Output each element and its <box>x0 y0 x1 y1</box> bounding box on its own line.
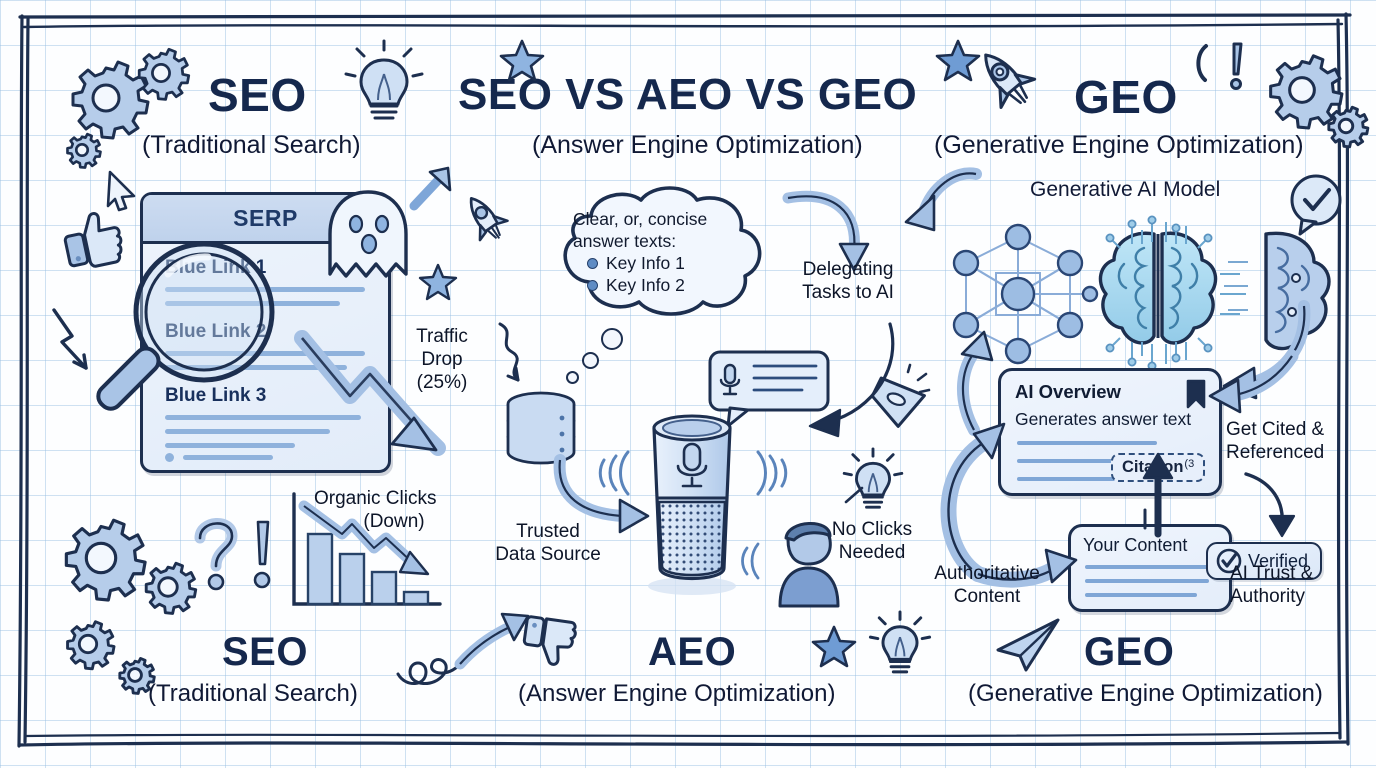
star-icon <box>500 38 544 82</box>
answer-cloud-bullet: Key Info 1 <box>587 252 707 274</box>
serp-card-title: SERP <box>233 205 298 232</box>
cloud-puff-icon <box>601 328 623 350</box>
citation-superscript: (3 <box>1184 458 1194 470</box>
answer-cloud: Clear, or, concise answer texts: Key Inf… <box>545 186 785 316</box>
authoritative-line-1: Authoritative <box>922 562 1052 585</box>
sound-wave-icon <box>734 538 768 584</box>
exclamation-mark-icon <box>1196 38 1266 118</box>
cloud-puff-icon <box>582 352 599 369</box>
answer-cloud-bullet-1: Key Info 1 <box>606 252 685 274</box>
header-right-subtitle: (Generative Engine Optimization) <box>934 131 1304 160</box>
check-badge-icon <box>1284 172 1348 238</box>
get-cited-label: Get Cited & Referenced <box>1226 418 1324 464</box>
authoritative-line-2: Content <box>922 585 1052 608</box>
bullet-dot-icon <box>587 258 598 269</box>
get-cited-line-2: Referenced <box>1226 441 1324 464</box>
footer-right-title: GEO <box>1084 630 1174 675</box>
rocket-icon <box>452 178 518 258</box>
footer-left-title: SEO <box>222 630 308 675</box>
paper-plane-icon <box>992 616 1064 674</box>
no-clicks-label: No Clicks Needed <box>816 518 928 564</box>
answer-cloud-bullet-2: Key Info 2 <box>606 274 685 296</box>
cloud-puff-icon <box>566 371 579 384</box>
get-cited-arrow-icon <box>1206 352 1302 428</box>
footer-center-title: AEO <box>648 630 736 675</box>
header-right-title: GEO <box>1074 70 1178 124</box>
delegating-label: Delegating Tasks to AI <box>790 258 906 304</box>
infographic-canvas: SEO (Traditional Search) SEO VS AEO VS G… <box>0 0 1376 768</box>
lightbulb-icon <box>840 448 906 518</box>
answer-cloud-heading-1: Clear, or, concise <box>573 208 707 230</box>
star-icon <box>812 624 856 668</box>
organic-clicks-label: Organic Clicks (Down) <box>314 487 474 533</box>
ai-trust-line-2: Authority <box>1230 585 1313 608</box>
connector-tick-icon <box>1140 508 1150 530</box>
traffic-drop-line-1: Traffic <box>394 325 490 348</box>
your-content-title: Your Content <box>1083 535 1187 556</box>
ghost-icon <box>320 186 416 288</box>
footer-center-subtitle: (Answer Engine Optimization) <box>518 680 835 708</box>
footer-left-subtitle: (Traditional Search) <box>148 680 358 708</box>
thumbs-down-icon <box>520 608 588 676</box>
header-left-title: SEO <box>208 68 307 122</box>
answer-cloud-text: Clear, or, concise answer texts: Key Inf… <box>573 208 707 296</box>
traffic-drop-label: Traffic Drop (25%) <box>394 325 490 394</box>
answer-cloud-heading-2: answer texts: <box>573 230 707 252</box>
lightbulb-icon <box>866 610 934 684</box>
bookmark-icon[interactable] <box>1185 379 1207 409</box>
ai-trust-line-1: AI Trust & <box>1230 562 1313 585</box>
no-clicks-line-2: Needed <box>816 541 928 564</box>
bullet-dot-icon <box>587 280 598 291</box>
get-cited-line-1: Get Cited & <box>1226 418 1324 441</box>
lightbulb-icon <box>340 40 430 132</box>
sound-wave-icon <box>594 440 638 506</box>
cursor-arrow-icon <box>100 166 144 214</box>
star-icon <box>418 262 458 302</box>
delegating-line-2: Tasks to AI <box>790 281 906 304</box>
trusted-source-line-2: Data Source <box>478 543 618 566</box>
trust-arrow-icon <box>1238 468 1308 544</box>
delegating-line-1: Delegating <box>790 258 906 281</box>
no-clicks-line-1: No Clicks <box>816 518 928 541</box>
organic-clicks-line-1: Organic Clicks <box>314 487 474 510</box>
organic-clicks-line-2: (Down) <box>314 510 474 533</box>
answer-cloud-bullet: Key Info 2 <box>587 274 707 296</box>
trusted-source-label: Trusted Data Source <box>478 520 618 566</box>
authoritative-content-arrow-icon <box>930 400 1090 580</box>
ai-trust-label: AI Trust & Authority <box>1230 562 1313 608</box>
gear-icon <box>1258 44 1368 144</box>
traffic-drop-line-3: (25%) <box>394 371 490 394</box>
rocket-icon <box>962 34 1048 122</box>
answer-delivery-arrow-icon <box>780 318 900 454</box>
gear-icon <box>60 40 190 160</box>
footer-right-subtitle: (Generative Engine Optimization) <box>968 680 1323 708</box>
traffic-drop-line-2: Drop <box>394 348 490 371</box>
swirl-arrow-icon <box>392 612 532 692</box>
generative-ai-model-label: Generative AI Model <box>1030 178 1220 202</box>
header-center-subtitle: (Answer Engine Optimization) <box>532 131 863 160</box>
trusted-source-line-1: Trusted <box>478 520 618 543</box>
authoritative-content-label: Authoritative Content <box>922 562 1052 608</box>
question-mark-icon <box>190 512 300 612</box>
squiggle-icon <box>492 318 562 398</box>
